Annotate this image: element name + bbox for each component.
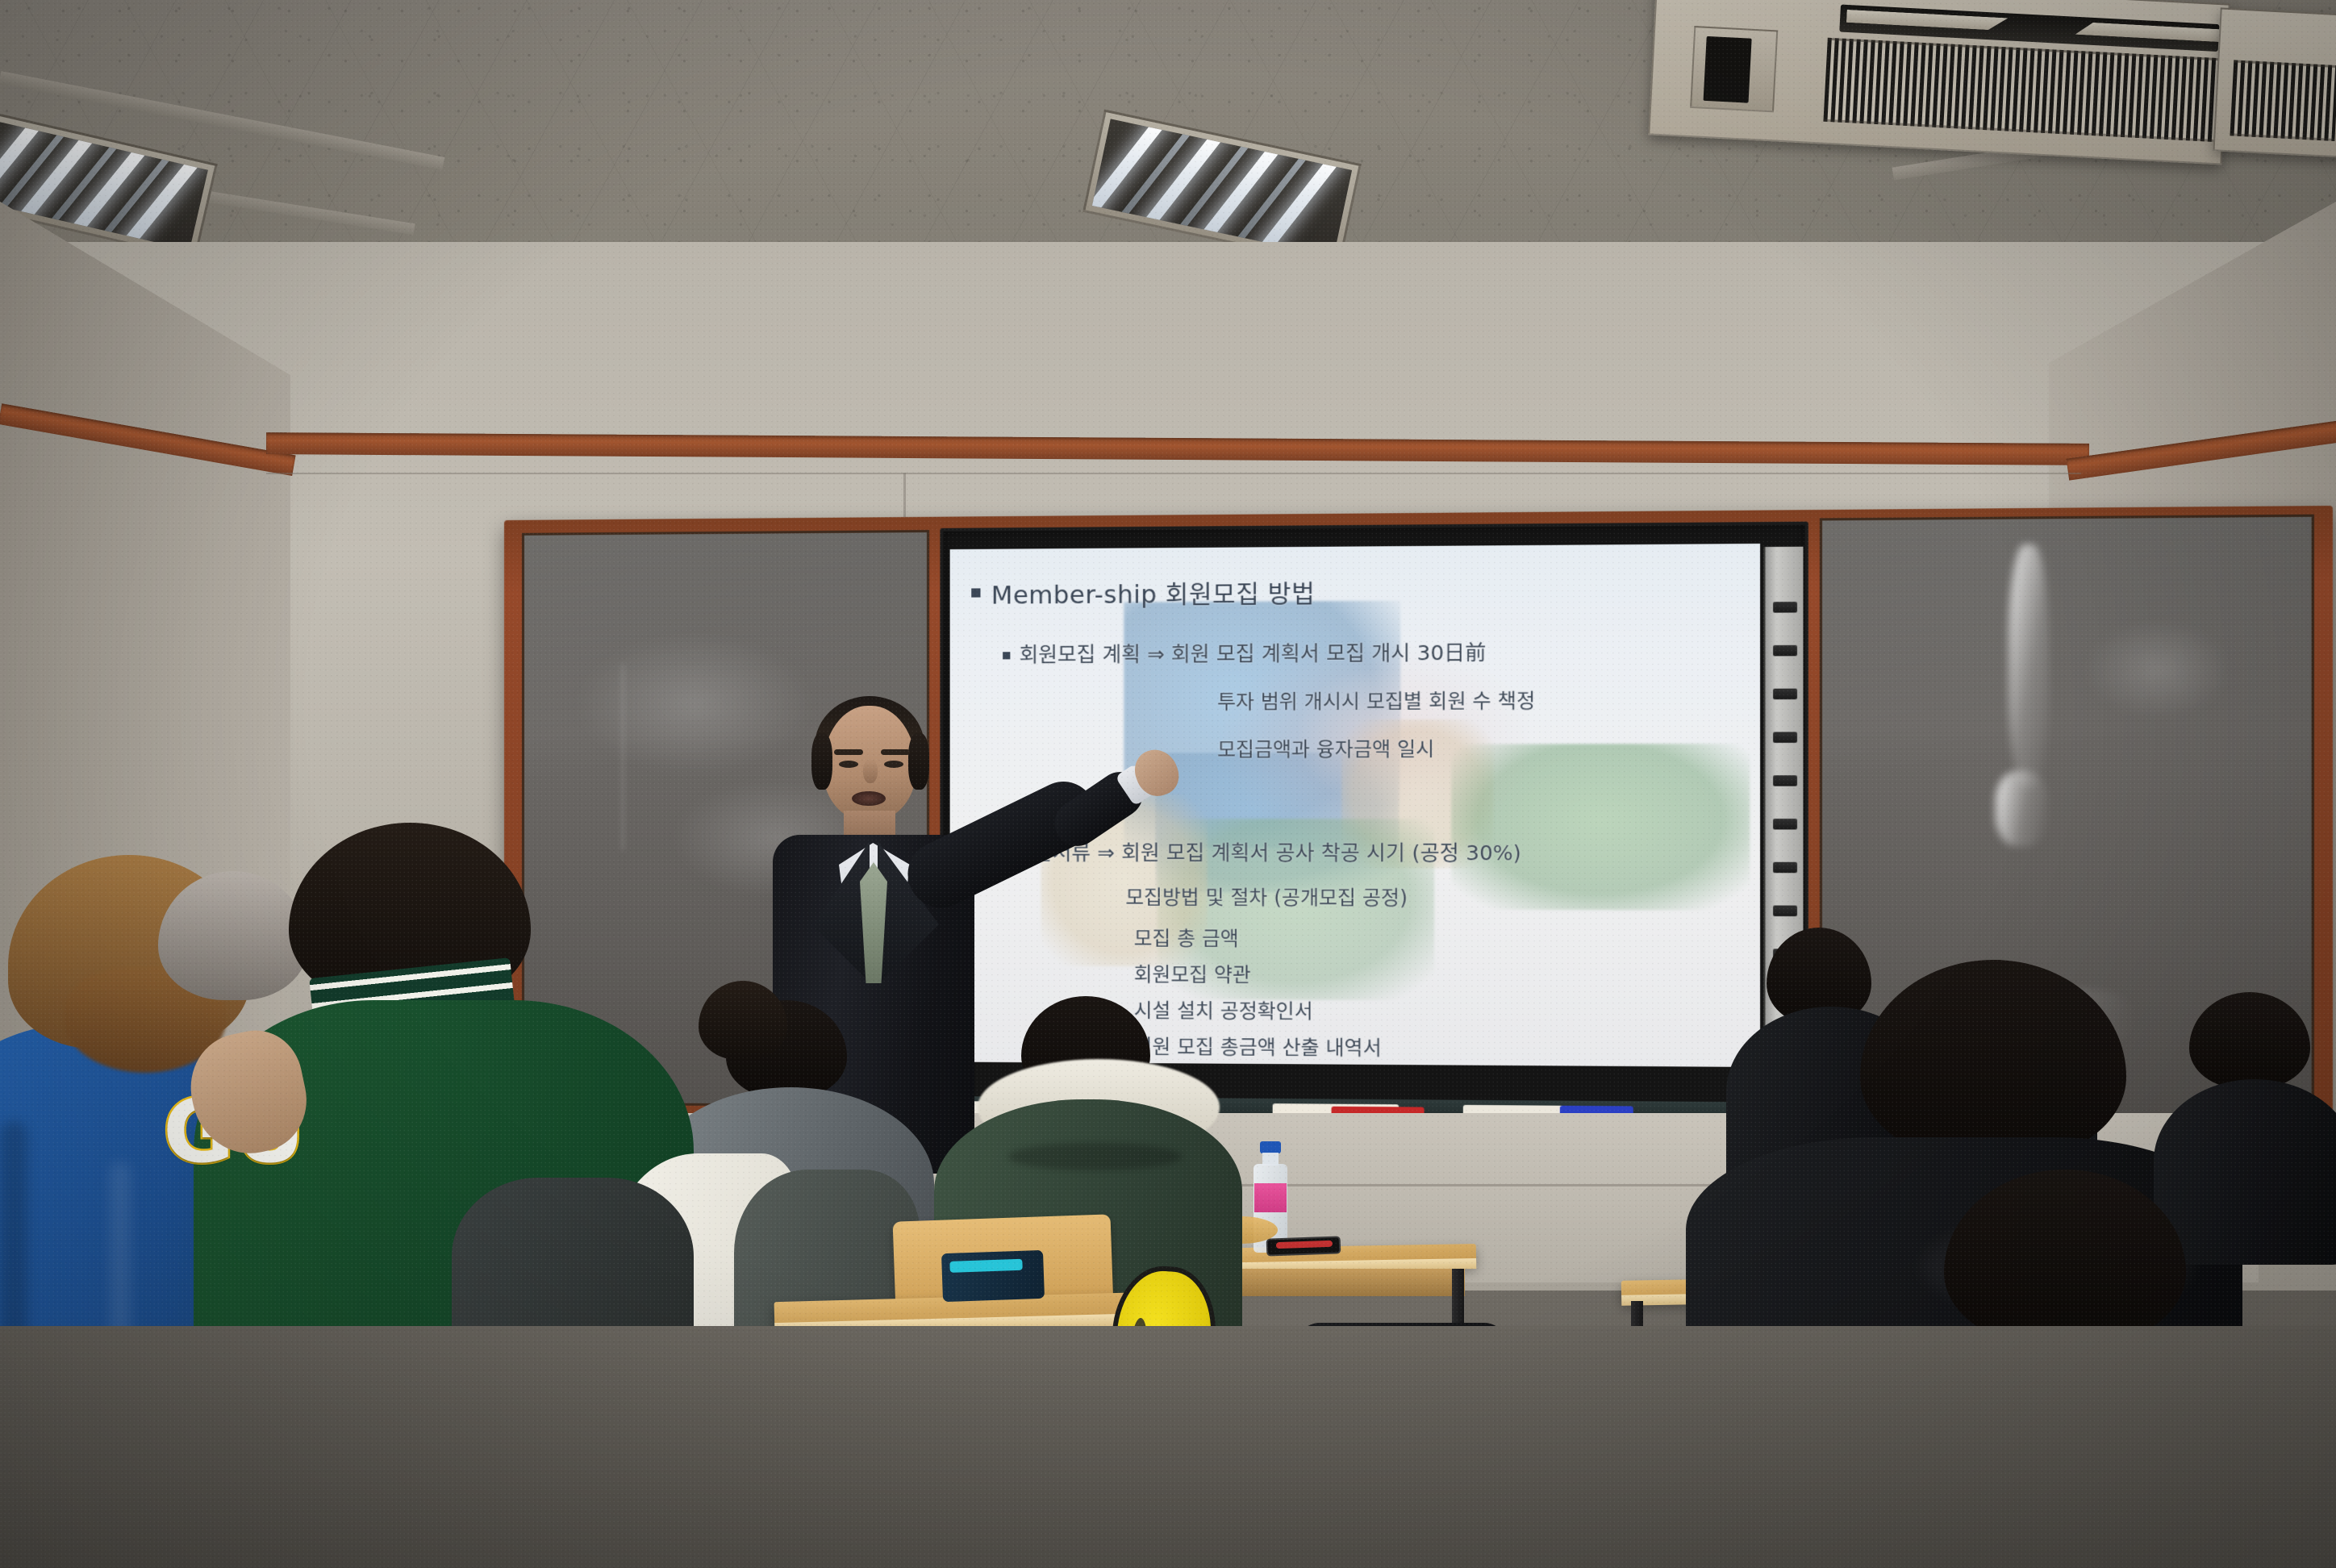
slide-bullet-1-line-2: 투자 범위 개시시 모집별 회원 수 책정 xyxy=(1217,685,1535,715)
iwb-button-7[interactable] xyxy=(1773,862,1797,873)
slide-bullet-1-marker xyxy=(1003,652,1010,659)
ac-grille xyxy=(1823,38,2230,143)
slide-bullet-1-line-3: 모집금액과 융자금액 일시 xyxy=(1217,732,1434,761)
iwb-button-3[interactable] xyxy=(1773,689,1797,700)
classroom-photo: PROJ xyxy=(0,0,2336,1568)
iwb-button-2[interactable] xyxy=(1773,645,1797,657)
slide-title: Member-ship 회원모집 방법 xyxy=(991,573,1315,611)
student-far-right xyxy=(2170,992,2336,1234)
air-conditioner-unit-right xyxy=(2213,7,2336,158)
smartphone-on-desk[interactable] xyxy=(1266,1236,1341,1256)
slide-bullet-2-line-3: 모집 총 금액 xyxy=(1134,922,1239,951)
iwb-button-4[interactable] xyxy=(1773,732,1797,743)
presenter-mouth xyxy=(852,791,886,806)
iwb-button-6[interactable] xyxy=(1773,819,1797,829)
floor xyxy=(0,1326,2336,1568)
slide-title-bullet xyxy=(971,588,980,597)
slide-bullet-2-line-2: 모집방법 및 절차 (공개모집 공정) xyxy=(1125,881,1408,910)
ac-side-vent xyxy=(1690,26,1778,112)
pencil-case[interactable] xyxy=(941,1250,1045,1302)
slide-bullet-2-line-4: 회원모집 약관 xyxy=(1134,958,1251,987)
iwb-button-1[interactable] xyxy=(1773,602,1797,613)
slide-bullet-1-head: 회원모집 계획 ⇒ 회원 모집 계획서 모집 개시 30日前 xyxy=(1020,636,1487,668)
iwb-button-8[interactable] xyxy=(1773,906,1797,917)
iwb-button-5[interactable] xyxy=(1773,775,1797,786)
presenter-nose xyxy=(863,759,878,783)
